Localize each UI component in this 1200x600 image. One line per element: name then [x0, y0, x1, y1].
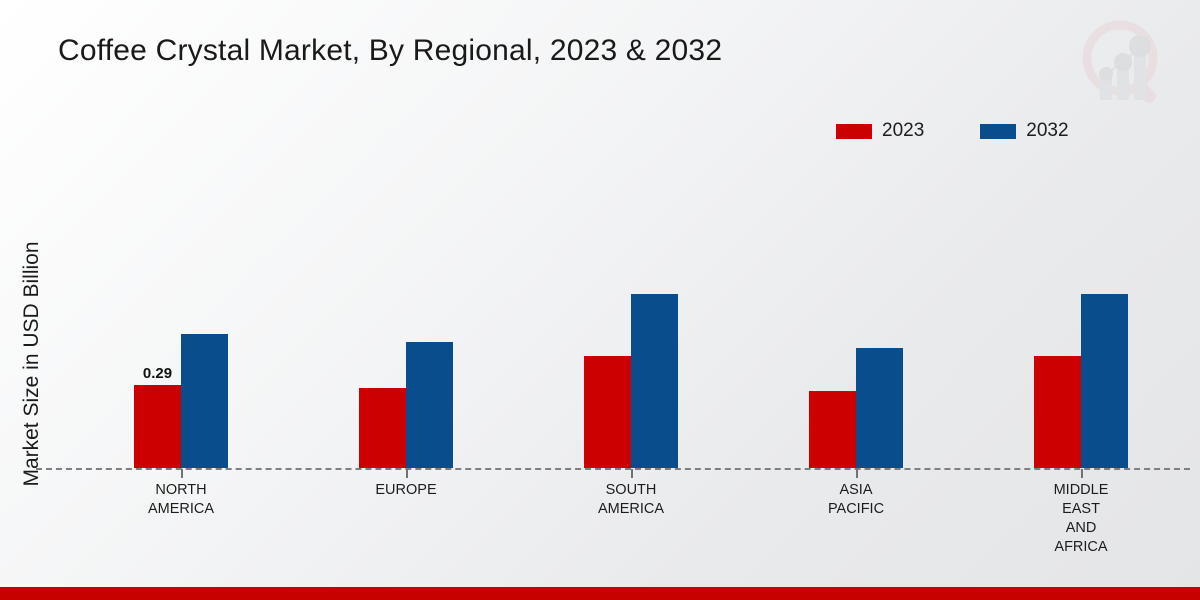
x-axis-tick: [631, 469, 633, 478]
bar-2032[interactable]: [181, 334, 228, 468]
x-axis-category-label: EUROPE: [306, 481, 506, 500]
plot-area: 0.29NORTHAMERICAEUROPESOUTHAMERICAASIAPA…: [0, 0, 1200, 600]
bar-group: [359, 208, 453, 468]
bar-group: [584, 208, 678, 468]
bar-2032[interactable]: [406, 342, 453, 468]
chart-page: Coffee Crystal Market, By Regional, 2023…: [0, 0, 1200, 600]
x-axis-tick: [1081, 469, 1083, 478]
bar-group: [1034, 208, 1128, 468]
bar-2023[interactable]: [584, 356, 631, 468]
bar-2023[interactable]: [809, 391, 856, 468]
x-axis-tick: [406, 469, 408, 478]
x-axis-tick: [181, 469, 183, 478]
bar-group: [809, 208, 903, 468]
bar-2023[interactable]: [134, 385, 181, 468]
bar-2023[interactable]: [1034, 356, 1081, 468]
bar-2023[interactable]: [359, 388, 406, 468]
x-axis-category-label: MIDDLEEASTANDAFRICA: [981, 481, 1181, 557]
bar-2032[interactable]: [1081, 294, 1128, 468]
x-axis-category-label: SOUTHAMERICA: [531, 481, 731, 519]
bar-2032[interactable]: [856, 348, 903, 468]
bar-2032[interactable]: [631, 294, 678, 468]
footer-stripe: [0, 587, 1200, 600]
x-axis-baseline: [36, 468, 1190, 470]
bar-group: [134, 208, 228, 468]
x-axis-tick: [856, 469, 858, 478]
x-axis-category-label: ASIAPACIFIC: [756, 481, 956, 519]
x-axis-category-label: NORTHAMERICA: [81, 481, 281, 519]
